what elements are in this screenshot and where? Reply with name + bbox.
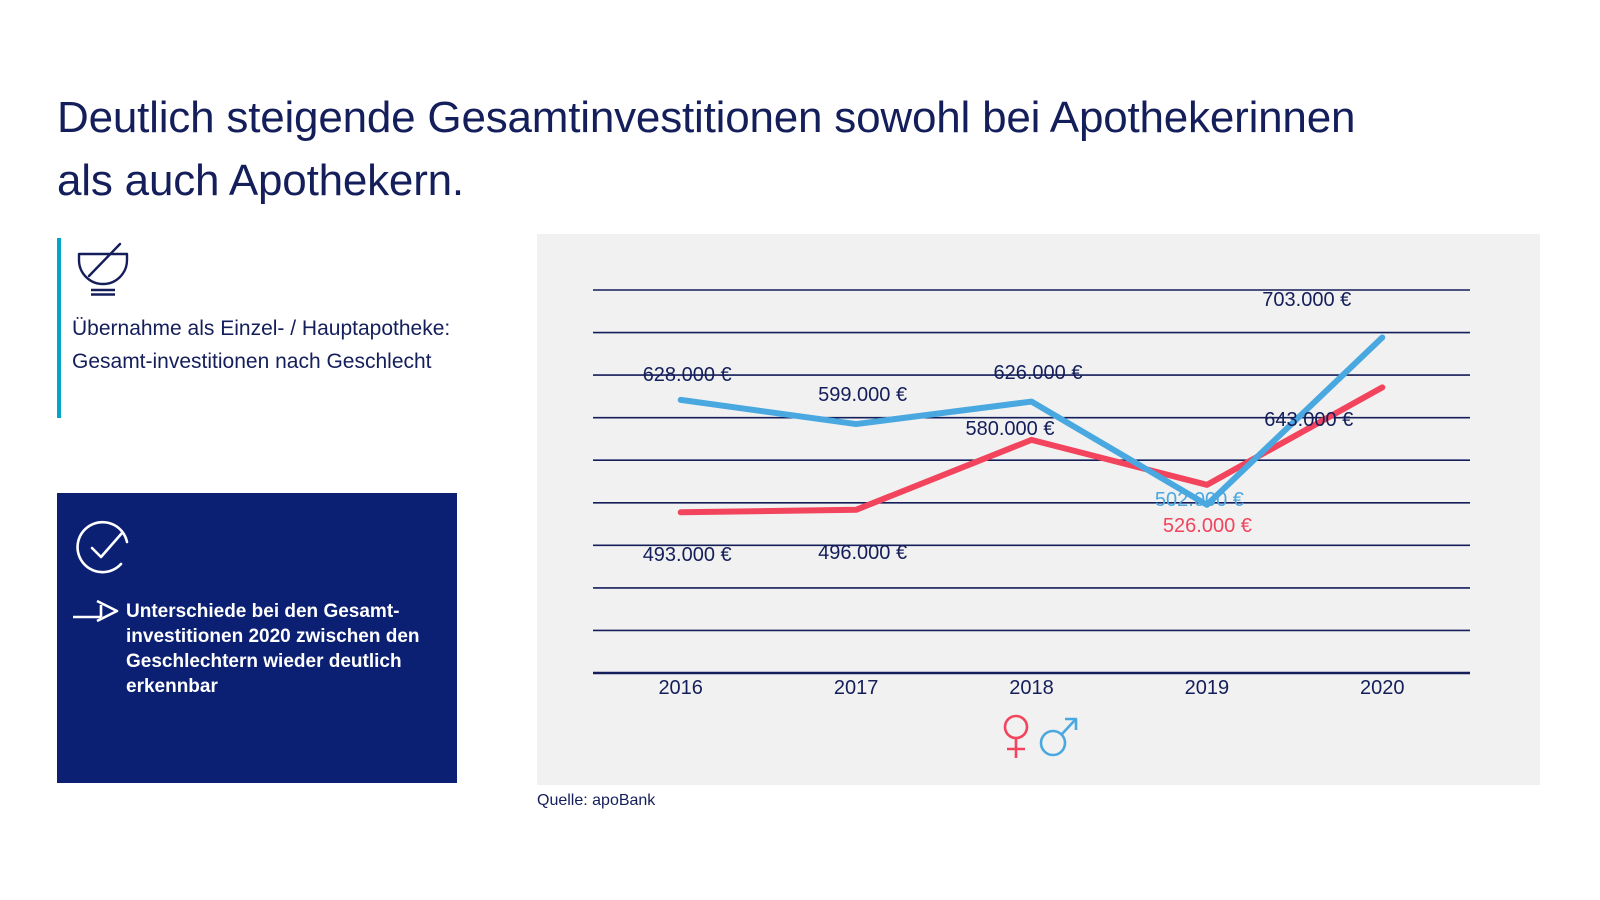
data-label: 496.000 € bbox=[818, 542, 907, 565]
female-symbol-icon bbox=[999, 727, 1037, 744]
x-axis-label: 2018 bbox=[972, 677, 1092, 700]
highlight-box-text: Unterschiede bei den Gesamt-investitione… bbox=[126, 599, 446, 699]
series-line bbox=[681, 387, 1383, 512]
check-circle-icon bbox=[75, 520, 133, 578]
data-label: 580.000 € bbox=[966, 418, 1055, 441]
source-note: Quelle: apoBank bbox=[537, 792, 655, 810]
caption-text: Übernahme als Einzel- / Hauptapotheke: G… bbox=[72, 312, 452, 378]
arrow-right-icon bbox=[71, 599, 123, 623]
data-label: 599.000 € bbox=[818, 384, 907, 407]
data-label: 703.000 € bbox=[1262, 289, 1351, 312]
data-label: 502.000 € bbox=[1155, 489, 1244, 512]
chart-panel: 493.000 €496.000 €580.000 €526.000 €643.… bbox=[537, 234, 1540, 785]
chart-legend bbox=[537, 712, 1540, 760]
x-axis-label: 2017 bbox=[796, 677, 916, 700]
slide-canvas: Deutlich steigende Gesamtinvestitionen s… bbox=[0, 0, 1600, 900]
male-symbol-icon bbox=[1038, 727, 1078, 744]
page-title: Deutlich steigende Gesamtinvestitionen s… bbox=[57, 86, 1357, 212]
data-label: 526.000 € bbox=[1163, 515, 1252, 538]
data-label: 493.000 € bbox=[643, 544, 732, 567]
x-axis-label: 2016 bbox=[621, 677, 741, 700]
caption-block: Übernahme als Einzel- / Hauptapotheke: G… bbox=[57, 238, 457, 418]
line-chart bbox=[537, 234, 1540, 785]
data-label: 628.000 € bbox=[643, 364, 732, 387]
x-axis-label: 2020 bbox=[1322, 677, 1442, 700]
highlight-box: Unterschiede bei den Gesamt-investitione… bbox=[57, 493, 457, 783]
mortar-and-pestle-icon bbox=[73, 238, 139, 300]
accent-bar bbox=[57, 238, 61, 418]
data-label: 626.000 € bbox=[994, 362, 1083, 385]
data-label: 643.000 € bbox=[1264, 409, 1353, 432]
x-axis-label: 2019 bbox=[1147, 677, 1267, 700]
